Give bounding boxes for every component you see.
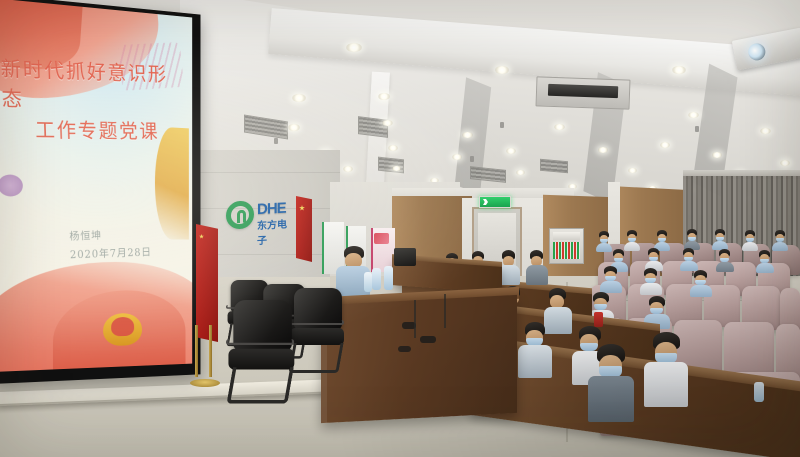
ceiling-air-vent: [358, 116, 388, 138]
attendee: [716, 249, 734, 271]
slide-party-emblem: [103, 313, 142, 346]
water-bottle: [364, 272, 372, 292]
recessed-downlight: [554, 124, 565, 130]
fire-sprinkler: [274, 138, 278, 144]
recessed-downlight: [628, 168, 637, 173]
fire-sprinkler: [500, 122, 504, 128]
recessed-downlight: [288, 124, 300, 131]
floor-cable: [420, 336, 436, 343]
attendee: [772, 230, 788, 250]
wall-control-panel[interactable]: [549, 228, 584, 264]
recessed-downlight: [760, 128, 771, 134]
attendee: [680, 248, 698, 270]
water-bottle: [754, 382, 764, 402]
attendee: [742, 230, 758, 250]
water-bottle: [384, 266, 393, 290]
recessed-downlight: [495, 66, 509, 74]
attendee: [600, 266, 622, 292]
running-man-icon: [483, 199, 488, 205]
ceiling-air-vent: [378, 157, 404, 174]
attendee: [640, 268, 662, 294]
desk-red-item: [594, 312, 603, 327]
recessed-downlight: [712, 152, 722, 158]
floor-cable: [398, 346, 411, 352]
company-wall-logo: DHE 东方电子: [226, 194, 292, 243]
attendee-seated: [518, 322, 552, 376]
flag-base: [190, 379, 220, 387]
slide-title-line-1: 新时代抓好意识形态: [0, 57, 168, 112]
wall-red-flag: [296, 196, 312, 262]
control-panel-display: [553, 232, 580, 240]
recessed-downlight: [452, 154, 462, 160]
ceiling-air-vent: [540, 159, 568, 173]
recessed-downlight: [688, 112, 699, 118]
mic-stand: [414, 300, 416, 338]
recessed-downlight: [346, 43, 362, 52]
recessed-downlight: [462, 132, 473, 138]
emergency-exit-sign: [479, 196, 511, 208]
recessed-downlight: [660, 142, 670, 148]
recessed-downlight: [343, 166, 353, 172]
slide-subtitle: 杨恒坤 2020年7月28日: [69, 224, 184, 264]
recessed-downlight: [392, 166, 401, 171]
recessed-downlight: [378, 93, 390, 100]
flag-pole: [209, 325, 212, 377]
mic-stand: [444, 294, 446, 328]
chair-sled-base: [226, 367, 293, 404]
recessed-downlight: [672, 66, 686, 74]
attendee: [690, 270, 712, 296]
logo-chinese-text: 东方电子: [257, 215, 292, 247]
fire-sprinkler: [695, 126, 699, 132]
ceiling-air-conditioner: [536, 76, 631, 109]
chair-arm: [226, 339, 294, 345]
flag-pole: [195, 325, 198, 377]
recessed-downlight: [292, 94, 306, 102]
slide-decor-flower: [0, 174, 23, 197]
attendee-seated-foreground: [644, 332, 688, 404]
leather-chair[interactable]: [226, 300, 302, 405]
fire-sprinkler: [470, 156, 474, 162]
attendee: [684, 229, 700, 249]
control-panel-indicators: [553, 242, 580, 259]
recessed-downlight: [516, 170, 525, 175]
attendee-seated: [526, 250, 548, 284]
flag-stand: [190, 325, 220, 387]
attendee: [756, 250, 774, 272]
attendee-seated-foreground: [588, 344, 634, 418]
recessed-downlight: [506, 148, 516, 154]
projector-lens-icon: [747, 42, 767, 62]
recessed-downlight: [598, 147, 608, 153]
attendee: [645, 248, 663, 270]
projection-screen: 新时代抓好意识形态 工作专题党课 杨恒坤 2020年7月28日: [0, 0, 201, 384]
recessed-downlight: [388, 145, 398, 151]
attendee: [712, 229, 728, 249]
banner-graphic: [374, 233, 389, 244]
presentation-slide: 新时代抓好意识形态 工作专题党课 杨恒坤 2020年7月28日: [0, 0, 192, 372]
meeting-room-photo: DHE 东方电子 新时代抓好意识形态 工作专题党课 杨恒坤 2020年7月28日: [0, 0, 800, 457]
attendee: [654, 230, 670, 250]
recessed-downlight: [780, 160, 790, 166]
podium: [321, 295, 517, 423]
slide-title-line-2: 工作专题党课: [35, 115, 175, 146]
monitor: [394, 248, 416, 266]
slide-title: 新时代抓好意识形态 工作专题党课: [0, 54, 175, 146]
water-bottle: [372, 268, 381, 290]
logo-ring-icon: [226, 200, 254, 229]
attendee: [596, 231, 612, 251]
attendee: [624, 230, 640, 250]
recessed-downlight: [382, 120, 393, 126]
